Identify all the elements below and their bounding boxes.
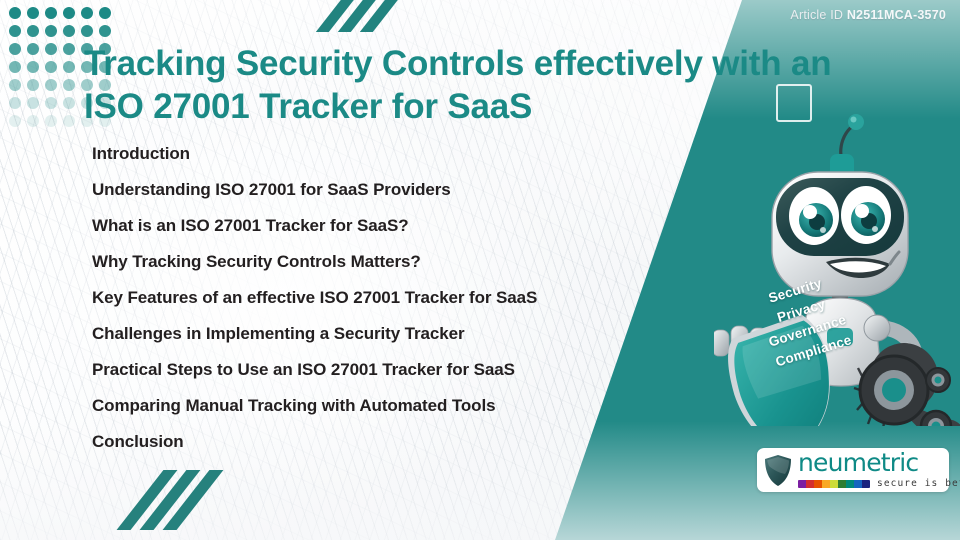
dot-row	[6, 4, 114, 22]
toc-item[interactable]: Understanding ISO 27001 for SaaS Provide…	[92, 172, 712, 208]
logo-color-bar	[798, 480, 870, 488]
article-id-label: Article ID	[790, 8, 843, 22]
logo-color-segment	[814, 480, 822, 488]
logo-subline: secure is better	[798, 478, 960, 489]
title-line-1: Tracking Security Controls effectively w…	[84, 44, 831, 83]
logo-color-segment	[838, 480, 846, 488]
toc-item[interactable]: Key Features of an effective ISO 27001 T…	[92, 280, 712, 316]
logo-color-segment	[822, 480, 830, 488]
logo-color-segment	[830, 480, 838, 488]
logo-shield-icon	[764, 454, 792, 487]
article-id: Article ID N2511MCA-3570	[790, 8, 946, 22]
logo-color-segment	[806, 480, 814, 488]
toc-item[interactable]: Conclusion	[92, 424, 712, 460]
logo-color-segment	[854, 480, 862, 488]
logo-color-segment	[798, 480, 806, 488]
toc-item[interactable]: Why Tracking Security Controls Matters?	[92, 244, 712, 280]
logo-color-segment	[862, 480, 870, 488]
toc-item[interactable]: Comparing Manual Tracking with Automated…	[92, 388, 712, 424]
toc-item[interactable]: Introduction	[92, 136, 712, 172]
logo-color-segment	[846, 480, 854, 488]
dot-row	[6, 22, 114, 40]
logo-tagline: secure is better	[877, 478, 960, 489]
table-of-contents: Introduction Understanding ISO 27001 for…	[92, 136, 712, 460]
slide-canvas: Article ID N2511MCA-3570 Tracking Securi…	[0, 0, 960, 540]
toc-item[interactable]: What is an ISO 27001 Tracker for SaaS?	[92, 208, 712, 244]
neumetric-logo[interactable]: neumetric secure is better	[757, 448, 949, 492]
toc-item[interactable]: Challenges in Implementing a Security Tr…	[92, 316, 712, 352]
logo-wordmark: neumetric	[798, 451, 960, 475]
article-id-code: N2511MCA-3570	[847, 8, 946, 22]
slash-decoration-bottom	[140, 470, 209, 530]
toc-item[interactable]: Practical Steps to Use an ISO 27001 Trac…	[92, 352, 712, 388]
robot-mascot-icon	[714, 96, 960, 426]
logo-text-block: neumetric secure is better	[798, 451, 960, 489]
slash-decoration-top	[333, 0, 399, 32]
